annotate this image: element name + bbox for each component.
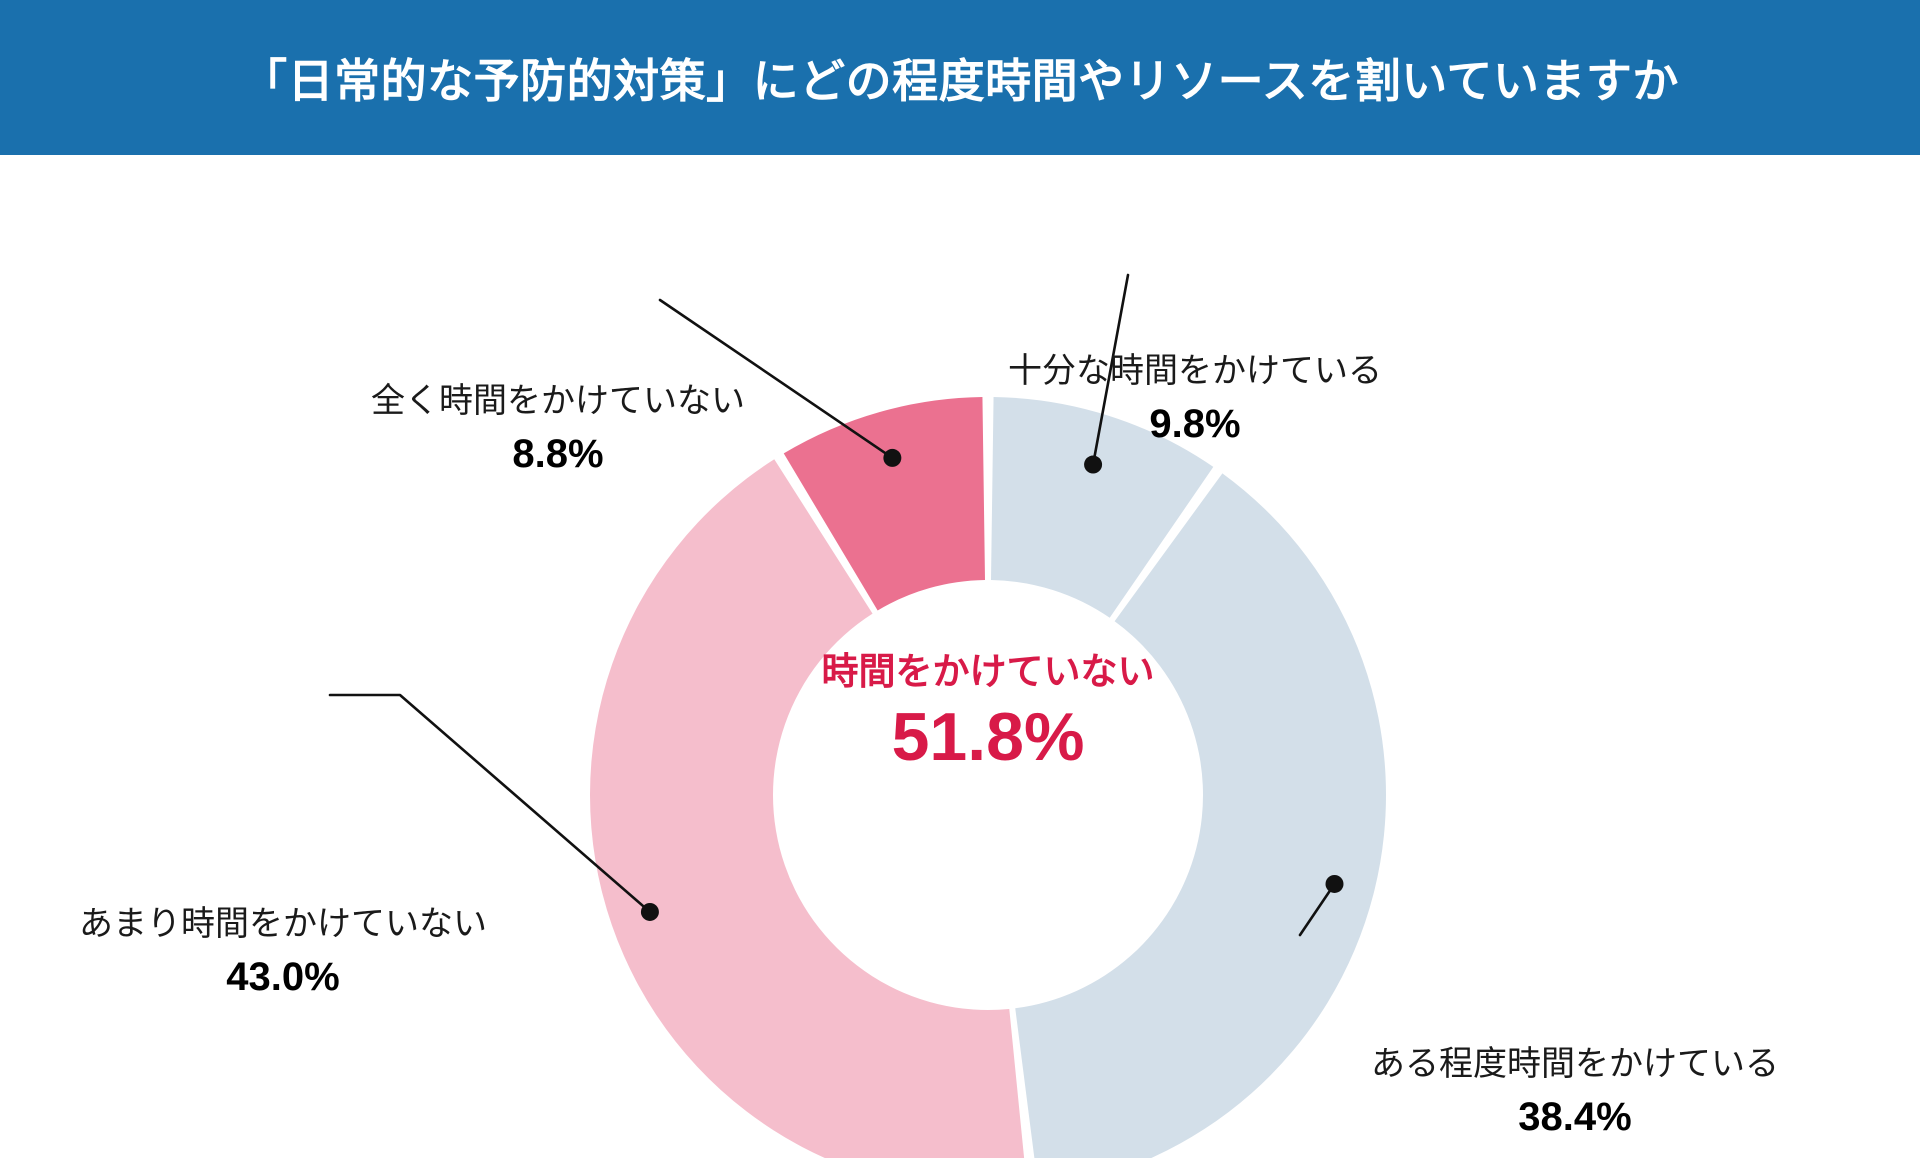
callout-none: 全く時間をかけていない 8.8% <box>318 380 798 479</box>
callout-sufficient-value: 9.8% <box>955 399 1435 449</box>
header-bar: 「日常的な予防的対策」にどの程度時間やリソースを割いていますか <box>0 0 1920 155</box>
donut-chart-svg <box>0 155 1920 1158</box>
callout-sufficient: 十分な時間をかけている 9.8% <box>955 350 1435 449</box>
leader-dot <box>1084 456 1102 474</box>
callout-some-value: 38.4% <box>1310 1092 1840 1142</box>
donut-slice-group <box>590 397 1386 1158</box>
callout-some-label: ある程度時間をかけている <box>1310 1043 1840 1086</box>
page-title: 「日常的な予防的対策」にどの程度時間やリソースを割いていますか <box>241 45 1679 111</box>
callout-little-label: あまり時間をかけていない <box>18 903 548 946</box>
callout-some: ある程度時間をかけている 38.4% <box>1310 1043 1840 1142</box>
donut-chart: 時間をかけていない 51.8% 十分な時間をかけている 9.8% 全く時間をかけ… <box>0 155 1920 1158</box>
callout-little-value: 43.0% <box>18 952 548 1002</box>
callout-sufficient-label: 十分な時間をかけている <box>955 350 1435 393</box>
callout-none-label: 全く時間をかけていない <box>318 380 798 423</box>
leader-dot <box>641 903 659 921</box>
leader-dot <box>1326 875 1344 893</box>
leader-dot <box>883 449 901 467</box>
callout-little: あまり時間をかけていない 43.0% <box>18 903 548 1002</box>
callout-none-value: 8.8% <box>318 429 798 479</box>
